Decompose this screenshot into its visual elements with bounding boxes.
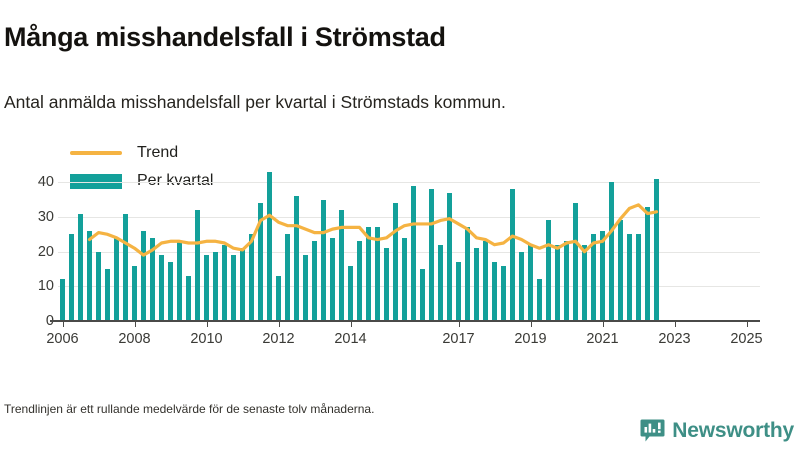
y-axis-tick-label: 20: [10, 244, 54, 260]
y-axis-tick-label: 10: [10, 278, 54, 294]
x-axis-tick-label: 2010: [190, 331, 222, 347]
page-title: Många misshandelsfall i Strömstad: [4, 22, 446, 53]
x-axis-tick-label: 2025: [730, 331, 762, 347]
x-axis-tick-label: 2006: [46, 331, 78, 347]
x-axis-tick-label: 2023: [658, 331, 690, 347]
x-axis-tick-mark: [279, 321, 280, 327]
x-axis-tick-mark: [747, 321, 748, 327]
x-axis-tick-mark: [135, 321, 136, 327]
chart-subtitle: Antal anmälda misshandelsfall per kvarta…: [4, 92, 506, 113]
x-axis-tick-label: 2021: [586, 331, 618, 347]
chart-footnote: Trendlinjen är ett rullande medelvärde f…: [4, 402, 374, 416]
plot-area: 010203040 200620082010201220142017201920…: [58, 165, 760, 321]
x-axis-tick-mark: [675, 321, 676, 327]
trend-line: [58, 165, 760, 321]
x-axis-tick-label: 2008: [118, 331, 150, 347]
brand-name: Newsworthy: [672, 419, 794, 443]
x-axis-tick-mark: [603, 321, 604, 327]
y-axis-tick-label: 30: [10, 209, 54, 225]
trend-line-path: [90, 205, 657, 255]
x-axis-tick-mark: [531, 321, 532, 327]
legend-item-trend[interactable]: Trend: [70, 142, 213, 164]
trend-line-swatch-icon: [70, 151, 122, 156]
x-axis-tick-mark: [351, 321, 352, 327]
x-axis-tick-mark: [459, 321, 460, 327]
brand-logo[interactable]: Newsworthy: [640, 418, 794, 443]
y-axis-tick-label: 40: [10, 174, 54, 190]
legend-label-trend: Trend: [137, 144, 178, 162]
chart-container: Trend Per kvartal 010203040 200620082010…: [0, 128, 800, 358]
x-axis-tick-label: 2019: [514, 331, 546, 347]
x-axis-tick-mark: [207, 321, 208, 327]
bar-chart-bubble-icon: [640, 418, 665, 443]
x-axis-tick-label: 2017: [442, 331, 474, 347]
x-axis-tick-label: 2012: [262, 331, 294, 347]
x-axis-tick-label: 2014: [334, 331, 366, 347]
x-axis-tick-mark: [63, 321, 64, 327]
y-axis-tick-label: 0: [10, 313, 54, 329]
x-axis-line: [50, 320, 760, 322]
